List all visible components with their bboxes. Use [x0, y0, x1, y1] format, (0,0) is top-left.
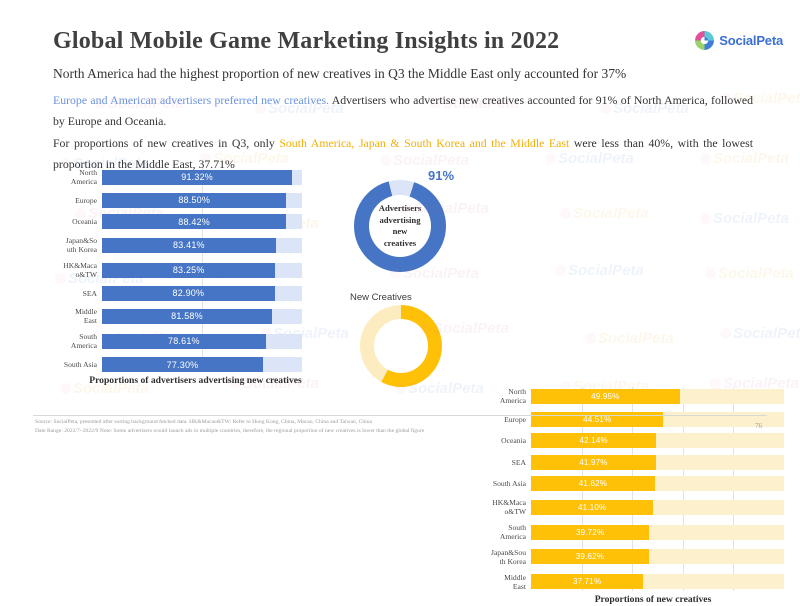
bar-category-label: HK&Macao&TW	[474, 498, 531, 516]
bar-fill: 37.71%	[531, 574, 643, 589]
bar-row: SEA82.90%	[47, 286, 302, 301]
bar-category-label: South Asia	[47, 360, 102, 369]
bar-value-label: 44.51%	[583, 415, 611, 424]
bar-track: 91.32%	[102, 170, 302, 185]
socialpeta-pinwheel-icon	[694, 30, 715, 51]
bar-category-label: SouthAmerica	[474, 523, 531, 541]
bar-track: 83.41%	[102, 238, 302, 253]
bar-track: 41.62%	[531, 476, 784, 491]
bar-track: 42.14%	[531, 433, 784, 448]
bar-category-label: SEA	[474, 458, 531, 467]
bar-row: Oceania42.14%	[474, 433, 784, 448]
footer-line-2: Date Range: 2022/7~2022/9 Note: Some adv…	[35, 428, 424, 434]
bar-fill: 82.90%	[102, 286, 275, 301]
bar-fill: 77.30%	[102, 357, 263, 372]
bar-value-label: 39.62%	[576, 552, 604, 561]
footer-divider	[33, 415, 767, 416]
bar-fill: 83.25%	[102, 263, 275, 278]
chart-rows: NorthAmerica49.95%Europe44.51%Oceania42.…	[474, 387, 784, 591]
bar-fill: 41.62%	[531, 476, 655, 491]
bar-value-label: 83.25%	[173, 265, 205, 275]
bar-category-label: Oceania	[474, 436, 531, 445]
bar-value-label: 41.10%	[578, 503, 606, 512]
bar-row: MiddleEast81.58%	[47, 307, 302, 325]
bar-fill: 78.61%	[102, 334, 266, 349]
bar-row: SouthAmerica78.61%	[47, 332, 302, 350]
bar-row: HK&Macao&TW83.25%	[47, 261, 302, 279]
bar-value-label: 41.97%	[579, 458, 607, 467]
brand-logo-text: SocialPeta	[719, 33, 783, 48]
page-number: 76	[755, 422, 762, 430]
bar-track: 37.71%	[531, 574, 784, 589]
watermark: SocialPeta	[720, 325, 800, 342]
bar-fill: 49.95%	[531, 389, 680, 404]
paragraph-1: Europe and American advertisers preferre…	[53, 90, 753, 132]
bar-category-label: Europe	[47, 196, 102, 205]
bar-row: Japan&South Korea83.41%	[47, 236, 302, 254]
chart-proportions-of-new-creatives: NorthAmerica49.95%Europe44.51%Oceania42.…	[474, 387, 784, 606]
bar-row: South Asia41.62%	[474, 476, 784, 491]
bar-value-label: 42.14%	[580, 436, 608, 445]
bar-category-label: MiddleEast	[474, 573, 531, 591]
bar-track: 77.30%	[102, 357, 302, 372]
bar-track: 83.25%	[102, 263, 302, 278]
bar-row: South Asia77.30%	[47, 357, 302, 372]
bar-fill: 39.62%	[531, 549, 649, 564]
bar-fill: 81.58%	[102, 309, 272, 324]
bar-fill: 88.42%	[102, 214, 286, 229]
bar-value-label: 77.30%	[167, 360, 199, 370]
bar-row: Oceania88.42%	[47, 214, 302, 229]
chart-title-right: Proportions of new creatives	[474, 594, 784, 606]
bar-fill: 39.72%	[531, 525, 649, 540]
bar-category-label: NorthAmerica	[47, 168, 102, 186]
bar-fill: 88.50%	[102, 193, 286, 208]
bar-category-label: SEA	[47, 289, 102, 298]
bar-track: 88.42%	[102, 214, 302, 229]
bar-track: 41.97%	[531, 455, 784, 470]
chart-rows: NorthAmerica91.32%Europe88.50%Oceania88.…	[47, 168, 302, 372]
bar-value-label: 83.41%	[173, 240, 205, 250]
bar-value-label: 39.72%	[576, 528, 604, 537]
bar-row: NorthAmerica91.32%	[47, 168, 302, 186]
bar-row: MiddleEast37.71%	[474, 573, 784, 591]
bar-track: 88.50%	[102, 193, 302, 208]
bar-value-label: 82.90%	[172, 288, 204, 298]
watermark: SocialPeta	[555, 262, 644, 279]
bar-fill: 41.10%	[531, 500, 653, 515]
donut-value-91: 91%	[428, 168, 454, 183]
chart-title-left: Proportions of advertisers advertising n…	[47, 375, 302, 387]
bar-row: HK&Macao&TW41.10%	[474, 498, 784, 516]
watermark: SocialPeta	[585, 330, 674, 347]
watermark: SocialPeta	[560, 205, 649, 222]
donut-new-creatives	[360, 305, 442, 387]
bar-value-label: 81.58%	[171, 311, 203, 321]
donut-advertisers-advertising-new-creatives: Advertisersadvertisingnewcreatives	[354, 180, 446, 272]
donut-center-label: Advertisersadvertisingnewcreatives	[379, 203, 421, 249]
bar-value-label: 78.61%	[168, 336, 200, 346]
page-subtitle: North America had the highest proportion…	[53, 66, 626, 82]
bar-category-label: Japan&South Korea	[474, 548, 531, 566]
bar-category-label: NorthAmerica	[474, 387, 531, 405]
bar-value-label: 41.62%	[579, 479, 607, 488]
bar-fill: 91.32%	[102, 170, 292, 185]
paragraph-2-highlight: South America, Japan & South Korea and t…	[279, 136, 569, 150]
bar-category-label: SouthAmerica	[47, 332, 102, 350]
bar-category-label: Japan&South Korea	[47, 236, 102, 254]
bar-fill: 41.97%	[531, 455, 656, 470]
bar-row: SEA41.97%	[474, 455, 784, 470]
brand-logo: SocialPeta	[694, 30, 783, 51]
bar-value-label: 91.32%	[181, 172, 213, 182]
bar-row: NorthAmerica49.95%	[474, 387, 784, 405]
bar-row: SouthAmerica39.72%	[474, 523, 784, 541]
bar-track: 82.90%	[102, 286, 302, 301]
bar-fill: 42.14%	[531, 433, 656, 448]
slide-root: SocialPetaSocialPetaSocialPetaSocialPeta…	[0, 0, 800, 450]
watermark: SocialPeta	[705, 265, 794, 282]
paragraph-2-pre: For proportions of new creatives in Q3, …	[53, 136, 279, 150]
bar-value-label: 49.95%	[591, 392, 619, 401]
bar-row: Europe88.50%	[47, 193, 302, 208]
bar-track: 81.58%	[102, 309, 302, 324]
donut-legend-new-creatives: New Creatives	[350, 292, 412, 303]
paragraph-1-highlight: Europe and American advertisers preferre…	[53, 93, 329, 107]
page-title: Global Mobile Game Marketing Insights in…	[53, 28, 559, 55]
bar-track: 39.72%	[531, 525, 784, 540]
bar-category-label: South Asia	[474, 479, 531, 488]
bar-category-label: Oceania	[47, 217, 102, 226]
chart-advertisers-advertising-new-creatives: NorthAmerica91.32%Europe88.50%Oceania88.…	[47, 168, 302, 387]
bar-category-label: Europe	[474, 415, 531, 424]
bar-track: 49.95%	[531, 389, 784, 404]
watermark: SocialPeta	[700, 210, 789, 227]
bar-track: 78.61%	[102, 334, 302, 349]
footer-line-1: Source: SocialPeta, presented after sort…	[35, 419, 372, 425]
bar-value-label: 88.50%	[178, 195, 210, 205]
bar-value-label: 88.42%	[178, 217, 210, 227]
bar-category-label: MiddleEast	[47, 307, 102, 325]
bar-track: 39.62%	[531, 549, 784, 564]
bar-track: 41.10%	[531, 500, 784, 515]
bar-value-label: 37.71%	[573, 577, 601, 586]
bar-category-label: HK&Macao&TW	[47, 261, 102, 279]
bar-row: Japan&South Korea39.62%	[474, 548, 784, 566]
bar-fill: 83.41%	[102, 238, 276, 253]
